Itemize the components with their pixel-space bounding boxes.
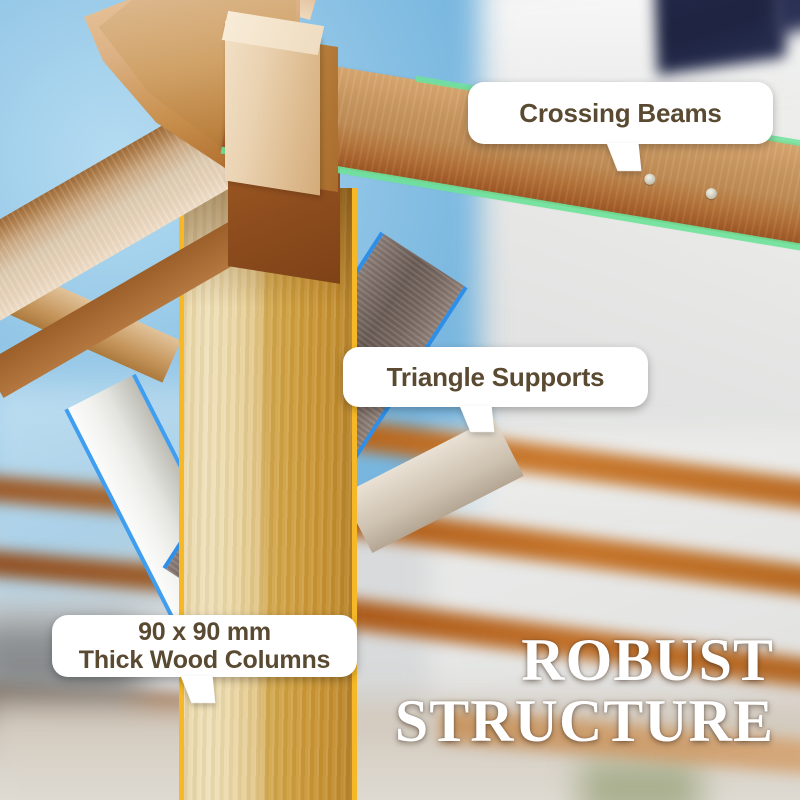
callout-tail [607, 143, 642, 171]
callout-crossing-beams[interactable]: Crossing Beams [468, 82, 773, 144]
callout-triangle-supports-label: Triangle Supports [387, 362, 605, 393]
headline-line-2: STRUCTURE [395, 691, 774, 752]
headline: ROBUST STRUCTURE [395, 630, 774, 752]
callout-column-size[interactable]: 90 x 90 mm Thick Wood Columns [52, 615, 357, 677]
callout-column-size-line1: 90 x 90 mm [138, 618, 271, 646]
headline-line-1: ROBUST [395, 630, 774, 691]
callout-tail [460, 406, 495, 432]
background-foliage [580, 760, 700, 800]
column-highlight-outline-right [352, 188, 357, 800]
callout-tail [181, 676, 216, 703]
callout-crossing-beams-label: Crossing Beams [519, 98, 721, 129]
callout-column-size-line2: Thick Wood Columns [79, 646, 331, 674]
background-window-navy-secondary [769, 0, 800, 35]
promo-image-scene: Crossing Beams Triangle Supports 90 x 90… [0, 0, 800, 800]
callout-triangle-supports[interactable]: Triangle Supports [343, 347, 648, 407]
